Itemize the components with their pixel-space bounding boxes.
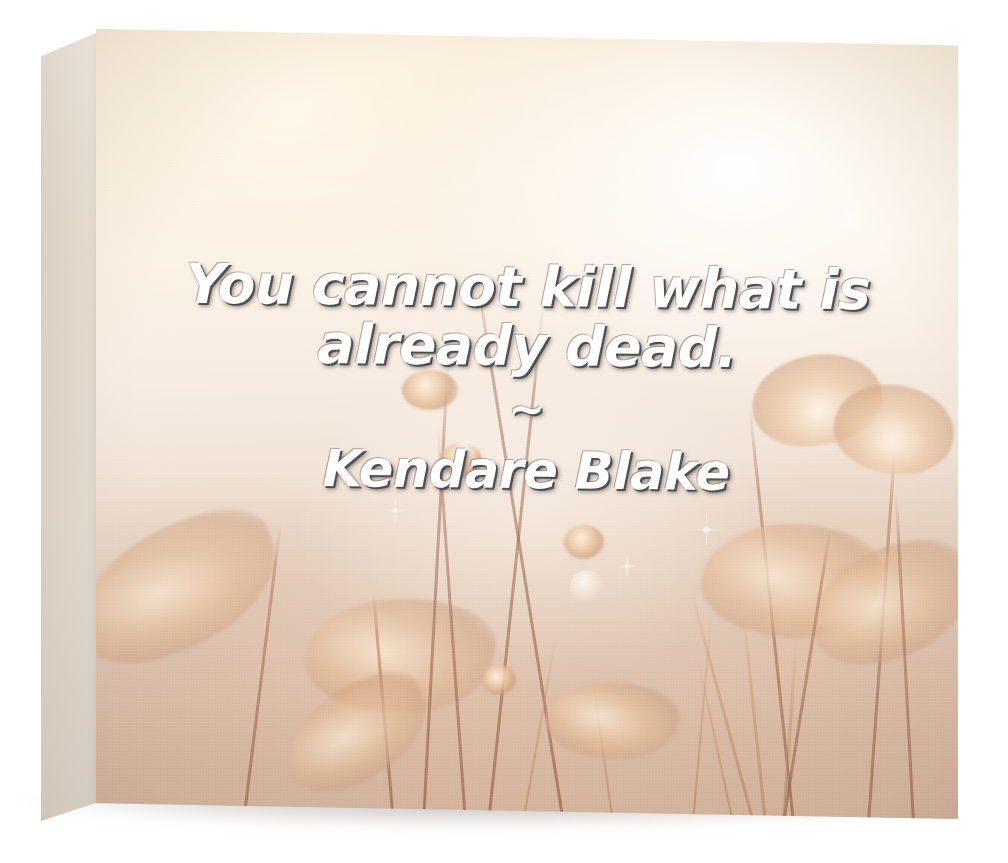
quote-line-1: You cannot kill what is [97,255,958,320]
bokeh-drop-1 [570,570,604,604]
sparkle-3 [624,563,630,569]
sparkle-1 [392,507,399,514]
leaf-flower-left-1 [96,496,296,680]
quote-author: Kendare Blake [96,441,957,502]
bokeh-drop-3 [834,203,874,243]
canvas-front-face: You cannot kill what is already dead. ~ … [96,29,958,819]
quote-separator: ~ [96,383,958,437]
quote-overlay: You cannot kill what is already dead. ~ … [96,255,958,502]
seed-head-4 [564,525,604,559]
canvas-wall-art: You cannot kill what is already dead. ~ … [28,10,968,845]
leaf-flower-center [539,665,684,774]
canvas-depth-side [41,31,101,821]
canvas-side-shading [41,31,101,821]
screenshot-root: You cannot kill what is already dead. ~ … [0,0,1008,863]
seed-head-3 [482,665,516,695]
sparkle-2 [702,525,711,534]
quote-line-2: already dead. [96,314,958,379]
